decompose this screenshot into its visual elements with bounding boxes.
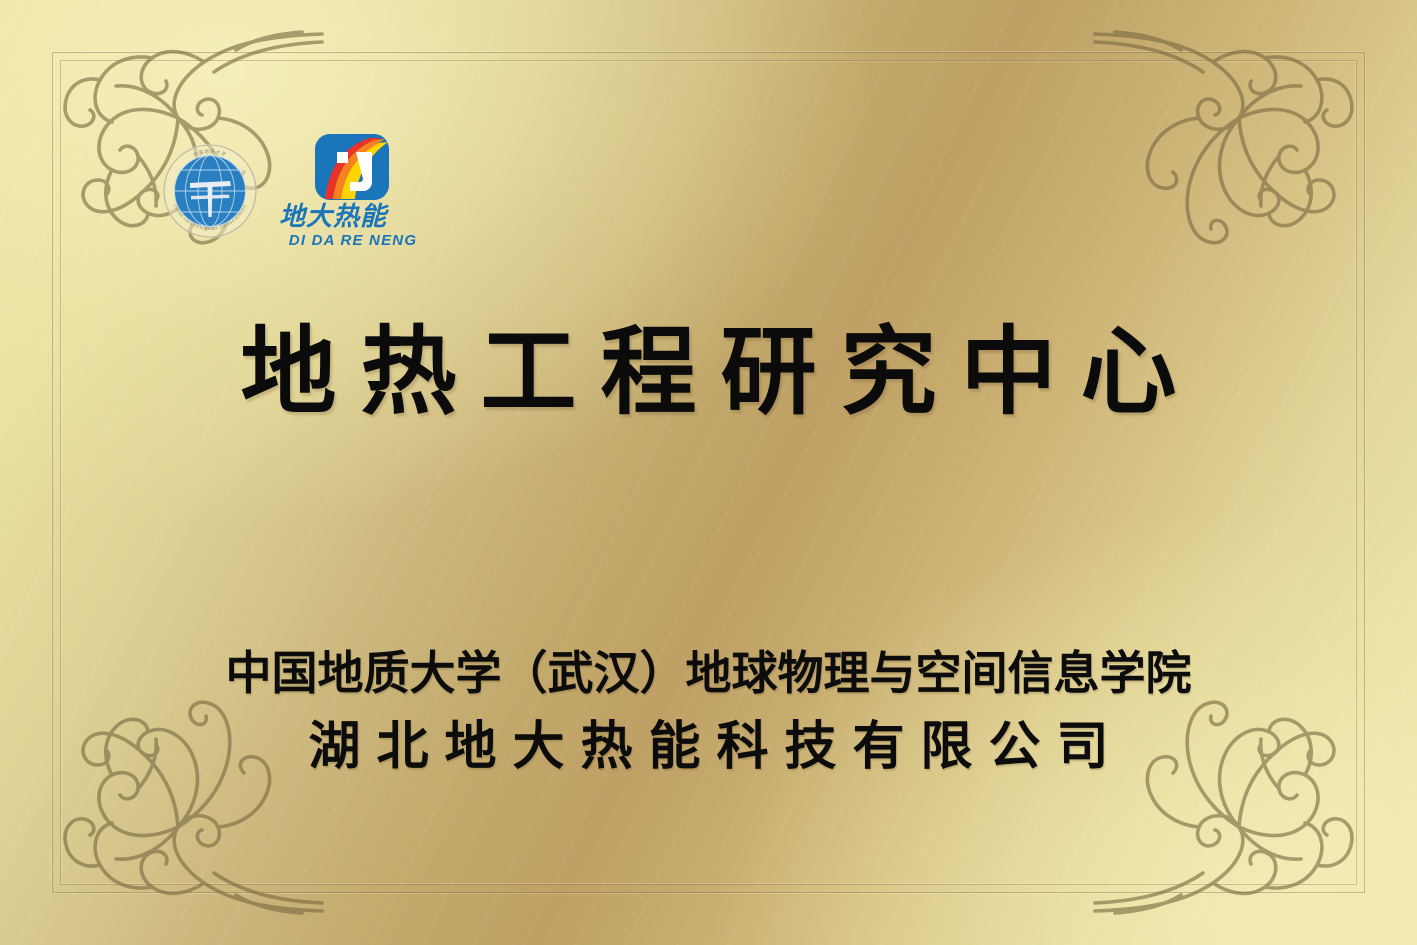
didareneng-pinyin-label: DI DA RE NENG [289, 232, 417, 249]
corner-ornament-top-right [1091, 10, 1391, 250]
china-university-of-geosciences-seal-icon: 中国地质大学 CHINA UNIVERSITY OF GEOSCIENCES 1… [160, 141, 260, 241]
page-title: 地热工程研究中心 [0, 322, 1417, 424]
subtitle-company: 湖北地大热能科技有限公司 [0, 704, 1417, 779]
svg-text:地大热能: 地大热能 [279, 202, 389, 232]
logo-group: 中国地质大学 CHINA UNIVERSITY OF GEOSCIENCES 1… [160, 133, 428, 249]
svg-text:1952: 1952 [206, 226, 216, 231]
didareneng-logo: 地大热能 DI DA RE NENG [278, 133, 428, 249]
didareneng-logo-icon: 地大热能 [277, 133, 429, 238]
subtitle-university: 中国地质大学（武汉）地球物理与空间信息学院 [0, 637, 1417, 703]
award-plaque: 中国地质大学 CHINA UNIVERSITY OF GEOSCIENCES 1… [0, 0, 1417, 945]
